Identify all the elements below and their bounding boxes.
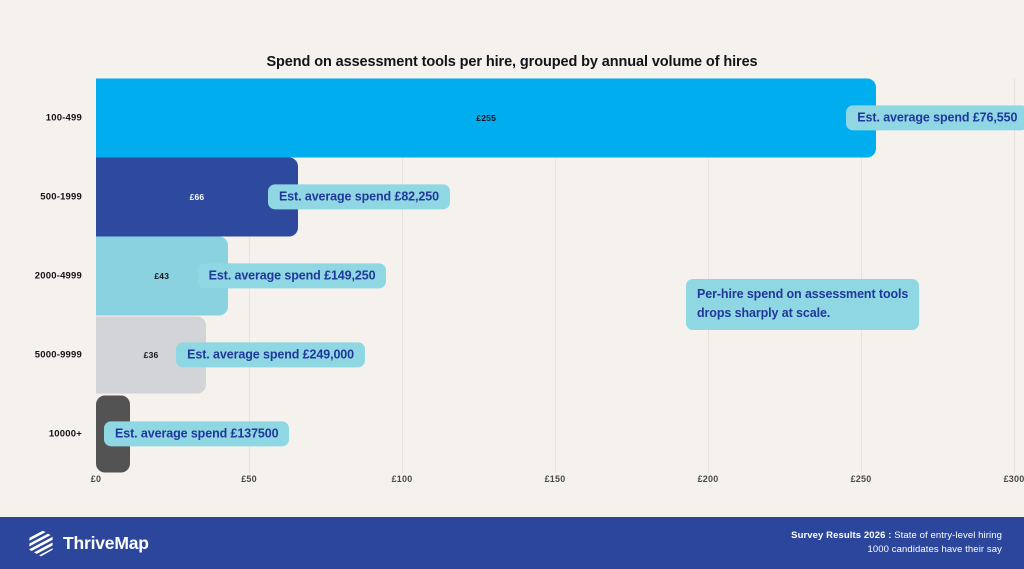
bar-row: 10000+£11Est. average spend £137500 [96, 394, 1014, 473]
category-label: 10000+ [0, 428, 82, 439]
est-average-spend-badge: Est. average spend £137500 [104, 421, 289, 446]
brand-logo: ThriveMap [28, 529, 149, 557]
footer-meta-line-2: 1000 candidates have their say [791, 543, 1002, 557]
survey-subtitle-label: State of entry-level hiring [894, 530, 1002, 541]
x-axis-tick-label: £0 [91, 474, 101, 484]
x-axis-tick-label: £200 [698, 474, 719, 484]
annotation-line-2: drops sharply at scale. [697, 304, 908, 323]
bar-value-label: £36 [144, 350, 159, 360]
x-axis-tick-label: £150 [545, 474, 566, 484]
category-label: 500-1999 [0, 191, 82, 202]
category-label: 5000-9999 [0, 349, 82, 360]
footer-meta: Survey Results 2026 : State of entry-lev… [791, 529, 1002, 557]
bar-value-label: £66 [190, 192, 205, 202]
chart-title: Spend on assessment tools per hire, grou… [0, 54, 1024, 70]
chart-plot-area: 100-499£255Est. average spend £76,550500… [0, 78, 1024, 473]
brand-name: ThriveMap [63, 533, 149, 554]
annotation-line-1: Per-hire spend on assessment tools [697, 285, 908, 304]
footer-meta-line-1: Survey Results 2026 : State of entry-lev… [791, 529, 1002, 543]
bar-value-label: £43 [154, 271, 169, 281]
bar-value-label: £255 [476, 113, 496, 123]
footer-bar: ThriveMap Survey Results 2026 : State of… [0, 517, 1024, 569]
est-average-spend-badge: Est. average spend £149,250 [198, 263, 387, 288]
gridline [1014, 78, 1015, 473]
est-average-spend-badge: Est. average spend £249,000 [176, 342, 365, 367]
annotation-callout: Per-hire spend on assessment tools drops… [686, 279, 919, 330]
est-average-spend-badge: Est. average spend £82,250 [268, 184, 450, 209]
bar-row: 100-499£255Est. average spend £76,550 [96, 78, 1014, 157]
category-label: 2000-4999 [0, 270, 82, 281]
x-axis: £0£50£100£150£200£250£300 [96, 474, 1014, 492]
est-average-spend-badge: Est. average spend £76,550 [846, 105, 1024, 130]
x-axis-tick-label: £50 [241, 474, 257, 484]
x-axis-tick-label: £250 [851, 474, 872, 484]
x-axis-tick-label: £100 [392, 474, 413, 484]
thrivemap-hex-logo-icon [28, 529, 54, 557]
x-axis-tick-label: £300 [1004, 474, 1024, 484]
bar-row: 500-1999£66Est. average spend £82,250 [96, 157, 1014, 236]
bars-container: 100-499£255Est. average spend £76,550500… [96, 78, 1014, 473]
category-label: 100-499 [0, 112, 82, 123]
survey-results-label: Survey Results 2026 : [791, 530, 891, 541]
